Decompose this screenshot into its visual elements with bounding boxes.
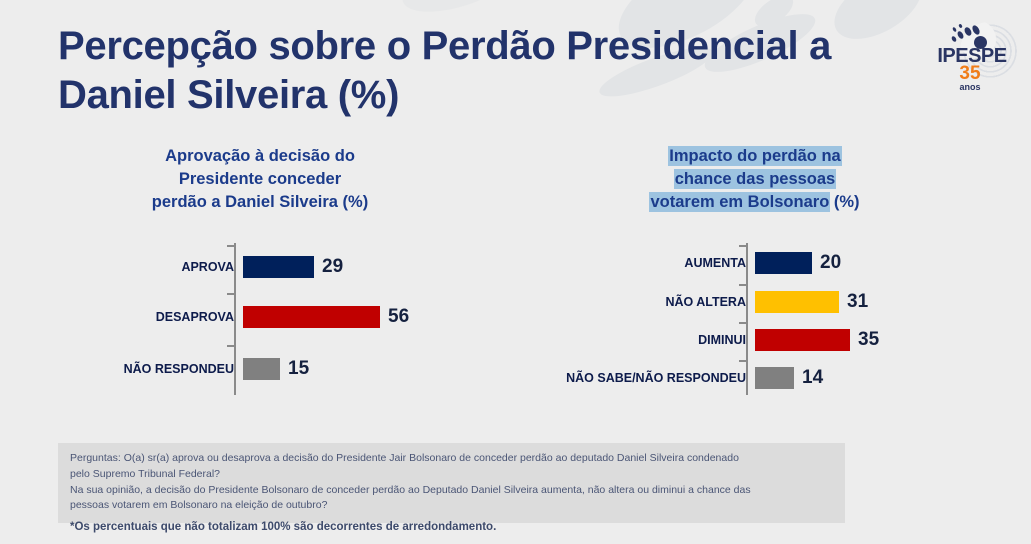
chart-subtitle-highlight: votarem em Bolsonaro [650,193,829,211]
bar-category-label: DESAPROVA [20,310,243,324]
chart-panel-approval: Aprovação à decisão do Presidente conced… [20,145,500,395]
bar-nao-altera [755,291,839,313]
bar-row: NÃO ALTERA 31 [505,283,1005,321]
chart-subtitle-line: votarem em Bolsonaro (%) [505,191,1005,214]
bar-value-label: 56 [380,306,409,328]
chart-subtitle-highlight: Impacto do perdão na [669,147,840,165]
bar-value-label: 14 [794,367,823,389]
bar-nao-respondeu [243,358,280,380]
footnote-line: Perguntas: O(a) sr(a) aprova ou desaprov… [70,451,835,467]
logo-years-label: anos [936,82,1004,92]
bar-row: NÃO SABE/NÃO RESPONDEU 14 [505,359,1005,397]
bar-category-label: DIMINUI [505,333,755,347]
axis-tick [227,293,234,295]
bar-value-label: 20 [812,252,841,274]
page-title-line-1: Percepção sobre o Perdão Presidencial a [58,22,898,71]
axis-tick [227,345,234,347]
bar-row: NÃO RESPONDEU 15 [20,343,500,395]
bar-row: DIMINUI 35 [505,321,1005,359]
chart-subtitle-line: Impacto do perdão na [505,145,1005,168]
axis-tick [739,245,746,247]
footnote-line: pessoas votarem em Bolsonaro na eleição … [70,498,835,514]
chart-subtitle-line: Aprovação à decisão do [20,145,500,168]
bar-value-label: 35 [850,329,879,351]
axis-tick [227,245,234,247]
bar-nao-sabe-nao-respondeu [755,367,794,389]
chart-subtitle-line: Presidente conceder [20,168,500,191]
decorative-blob-icon [396,0,524,23]
chart-subtitle-impact: Impacto do perdão na chance das pessoas … [505,145,1005,213]
footnote-line: Na sua opinião, a decisão do Presidente … [70,483,835,499]
bar-desaprova [243,306,380,328]
bar-diminui [755,329,850,351]
chart-subtitle-line: perdão a Daniel Silveira (%) [20,191,500,214]
chart-panel-impact: Impacto do perdão na chance das pessoas … [505,145,1005,397]
chart-subtitle-suffix: (%) [829,193,859,211]
footnote-questions-box: Perguntas: O(a) sr(a) aprova ou desaprov… [58,443,845,523]
bar-chart-impact: AUMENTA 20 NÃO ALTERA 31 DIMINUI 35 [505,243,1005,397]
chart-subtitle-approval: Aprovação à decisão do Presidente conced… [20,145,500,213]
bar-category-label: APROVA [20,260,243,274]
footnote-line: pelo Supremo Tribunal Federal? [70,467,835,483]
bar-category-label: AUMENTA [505,256,755,270]
axis-tick [739,284,746,286]
bar-category-label: NÃO ALTERA [505,295,755,309]
bar-category-label: NÃO SABE/NÃO RESPONDEU [505,371,755,385]
bar-value-label: 31 [839,291,868,313]
page-title-line-2: Daniel Silveira (%) [58,71,898,120]
axis-tick [739,360,746,362]
axis-tick [739,322,746,324]
bar-row: APROVA 29 [20,243,500,291]
bar-approva [243,256,314,278]
bar-category-label: NÃO RESPONDEU [20,362,243,376]
bar-value-label: 29 [314,256,343,278]
bar-value-label: 15 [280,358,309,380]
logo-dots-icon [952,24,986,46]
bar-row: AUMENTA 20 [505,243,1005,283]
page-title: Percepção sobre o Perdão Presidencial a … [58,22,898,120]
bar-row: DESAPROVA 56 [20,291,500,343]
chart-subtitle-highlight: chance das pessoas [675,170,836,188]
bar-chart-approval: APROVA 29 DESAPROVA 56 NÃO RESPONDEU 15 [20,243,500,395]
chart-subtitle-line: chance das pessoas [505,168,1005,191]
slide: Percepção sobre o Perdão Presidencial a … [0,0,1031,544]
bar-aumenta [755,252,812,274]
ipespe-logo: IPESPE 35 anos [936,18,1018,98]
rounding-note: *Os percentuais que não totalizam 100% s… [70,521,496,533]
